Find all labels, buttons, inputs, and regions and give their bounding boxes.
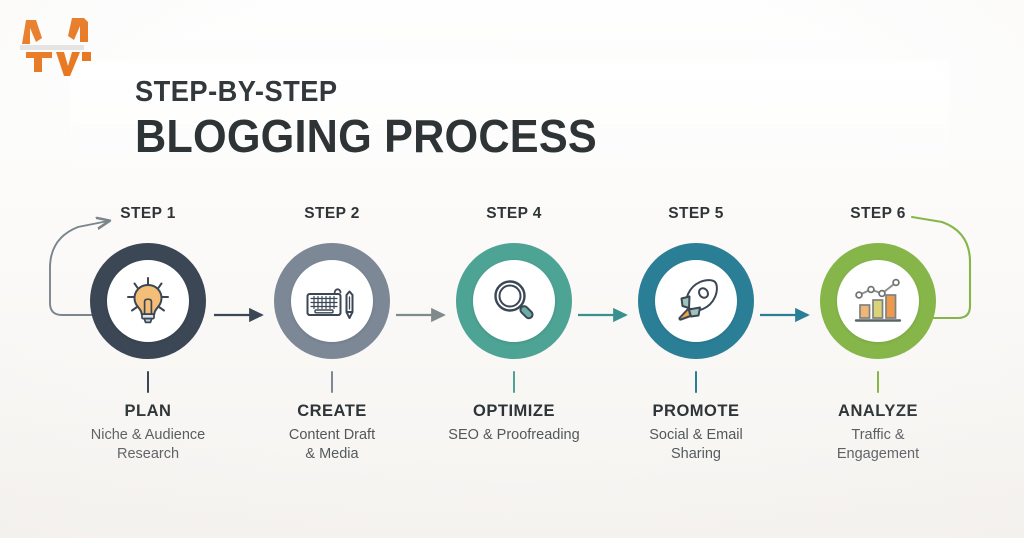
title-line-1: STEP-BY-STEP <box>135 78 597 107</box>
step-ring <box>90 243 206 359</box>
step-circle-wrap <box>56 231 240 371</box>
steps-row: STEP 1 <box>0 205 1024 495</box>
step-item-create[interactable]: STEP 2 <box>240 205 424 464</box>
step-description: Content Draft & Media <box>240 426 424 464</box>
step-title: ANALYZE <box>786 402 970 421</box>
step-title: PLAN <box>56 402 240 421</box>
step-kicker: STEP 1 <box>56 205 240 223</box>
page-title: STEP-BY-STEP BLOGGING PROCESS <box>135 78 626 162</box>
step-stem <box>695 371 698 393</box>
step-ring <box>456 243 572 359</box>
step-stem <box>331 371 334 393</box>
step-description: Niche & Audience Research <box>56 426 240 464</box>
step-kicker: STEP 5 <box>604 205 788 223</box>
step-kicker: STEP 4 <box>422 205 606 223</box>
brand-logo <box>12 8 108 86</box>
bar-chart-trend-icon <box>842 265 914 337</box>
step-circle-wrap <box>786 231 970 371</box>
step-ring <box>274 243 390 359</box>
step-stem <box>147 371 150 393</box>
step-item-promote[interactable]: STEP 5 <box>604 205 788 464</box>
step-title: OPTIMIZE <box>422 402 606 421</box>
step-stem <box>513 371 516 393</box>
step-description: Social & Email Sharing <box>604 426 788 464</box>
keyboard-pen-icon <box>296 265 368 337</box>
step-item-plan[interactable]: STEP 1 <box>56 205 240 464</box>
rocket-icon <box>660 265 732 337</box>
step-ring <box>820 243 936 359</box>
magnifier-icon <box>478 265 550 337</box>
step-circle-wrap <box>240 231 424 371</box>
step-circle-wrap <box>422 231 606 371</box>
step-circle-wrap <box>604 231 788 371</box>
step-stem <box>877 371 880 393</box>
step-item-analyze[interactable]: STEP 6 <box>786 205 970 464</box>
step-description: SEO & Proofreading <box>422 426 606 445</box>
title-line-2: BLOGGING PROCESS <box>135 112 597 162</box>
step-title: PROMOTE <box>604 402 788 421</box>
step-description: Traffic & Engagement <box>786 426 970 464</box>
step-kicker: STEP 2 <box>240 205 424 223</box>
lightbulb-icon <box>112 265 184 337</box>
step-item-optimize[interactable]: STEP 4 OPTIMIZE SEO & Proofreading <box>422 205 606 445</box>
step-ring <box>638 243 754 359</box>
step-title: CREATE <box>240 402 424 421</box>
step-kicker: STEP 6 <box>786 205 970 223</box>
